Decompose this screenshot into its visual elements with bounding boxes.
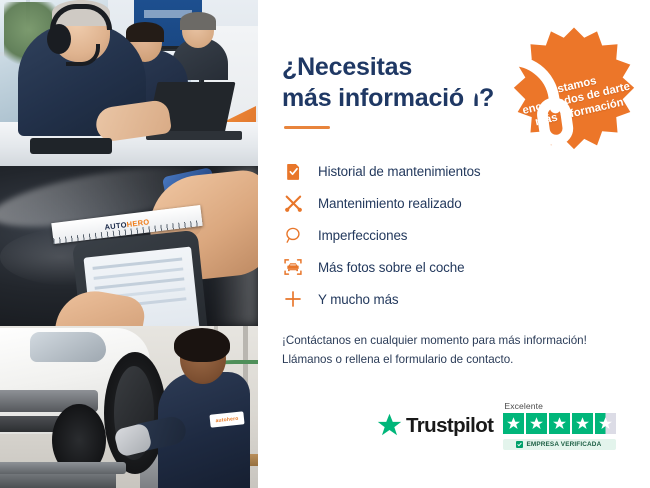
content-panel: ¿Necesitas más información? Estamos enca…	[258, 0, 650, 488]
mechanic-hair	[174, 328, 230, 362]
feature-list: Historial de mantenimientos Mantenimient…	[282, 155, 624, 315]
rating-star	[572, 413, 593, 434]
rating-star-half	[595, 413, 616, 434]
magnifier-icon	[282, 224, 304, 246]
trustpilot-star-rating	[503, 413, 616, 434]
list-item: Y mucho más	[282, 283, 624, 315]
car-lift-platform	[0, 474, 116, 488]
contact-copy: ¡Contáctanos en cualquier momento para m…	[282, 331, 624, 370]
trustpilot-rating-block: Excelente	[503, 401, 616, 450]
desk-tablet	[30, 138, 112, 154]
photo-column: AUTOHERO	[0, 0, 258, 488]
trustpilot-wordmark: Trustpilot	[406, 414, 493, 438]
list-item: Más fotos sobre el coche	[282, 251, 624, 283]
trustpilot-logo: Trustpilot	[376, 412, 493, 439]
verified-label: EMPRESA VERIFICADA	[526, 441, 601, 448]
list-item: Mantenimiento realizado	[282, 187, 624, 219]
car-headlight	[30, 332, 106, 362]
second-agent-hair	[126, 22, 164, 42]
tools-wrench-screwdriver-icon	[282, 192, 304, 214]
background-person-hair	[180, 12, 216, 30]
verified-company-badge: EMPRESA VERIFICADA	[503, 439, 616, 450]
trustpilot-star-icon	[376, 412, 403, 439]
car-inspection-ruler-photo: AUTOHERO	[0, 166, 258, 326]
mechanic-wheel-photo: autohero	[0, 326, 258, 488]
feature-label: Y mucho más	[318, 292, 399, 307]
rating-star	[526, 413, 547, 434]
trustpilot-widget[interactable]: Trustpilot Excelente	[376, 401, 616, 450]
trustpilot-rating-label: Excelente	[504, 401, 543, 411]
contact-line-1: ¡Contáctanos en cualquier momento para m…	[282, 334, 587, 347]
front-wheel	[104, 352, 166, 474]
feature-label: Más fotos sobre el coche	[318, 260, 464, 275]
contact-line-2: Llámanos o rellena el formulario de cont…	[282, 353, 513, 366]
car-photo-frame-icon	[282, 256, 304, 278]
rating-star	[503, 413, 524, 434]
document-check-icon	[282, 160, 304, 182]
call-center-agents-photo	[0, 0, 258, 166]
headline-line-1: ¿Necesitas	[282, 53, 412, 81]
rating-star	[549, 413, 570, 434]
title-divider	[284, 126, 330, 129]
headset-icon	[439, 31, 584, 176]
verified-check-icon	[516, 441, 523, 448]
list-item: Historial de mantenimientos	[282, 155, 624, 187]
information-banner: AUTOHERO	[0, 0, 650, 488]
plus-icon	[282, 288, 304, 310]
car-lift-arm	[0, 462, 126, 474]
feature-label: Imperfecciones	[318, 228, 407, 243]
status-badge: Estamos encantados de darte más informac…	[510, 25, 638, 153]
list-item: Imperfecciones	[282, 219, 624, 251]
feature-label: Mantenimiento realizado	[318, 196, 462, 211]
